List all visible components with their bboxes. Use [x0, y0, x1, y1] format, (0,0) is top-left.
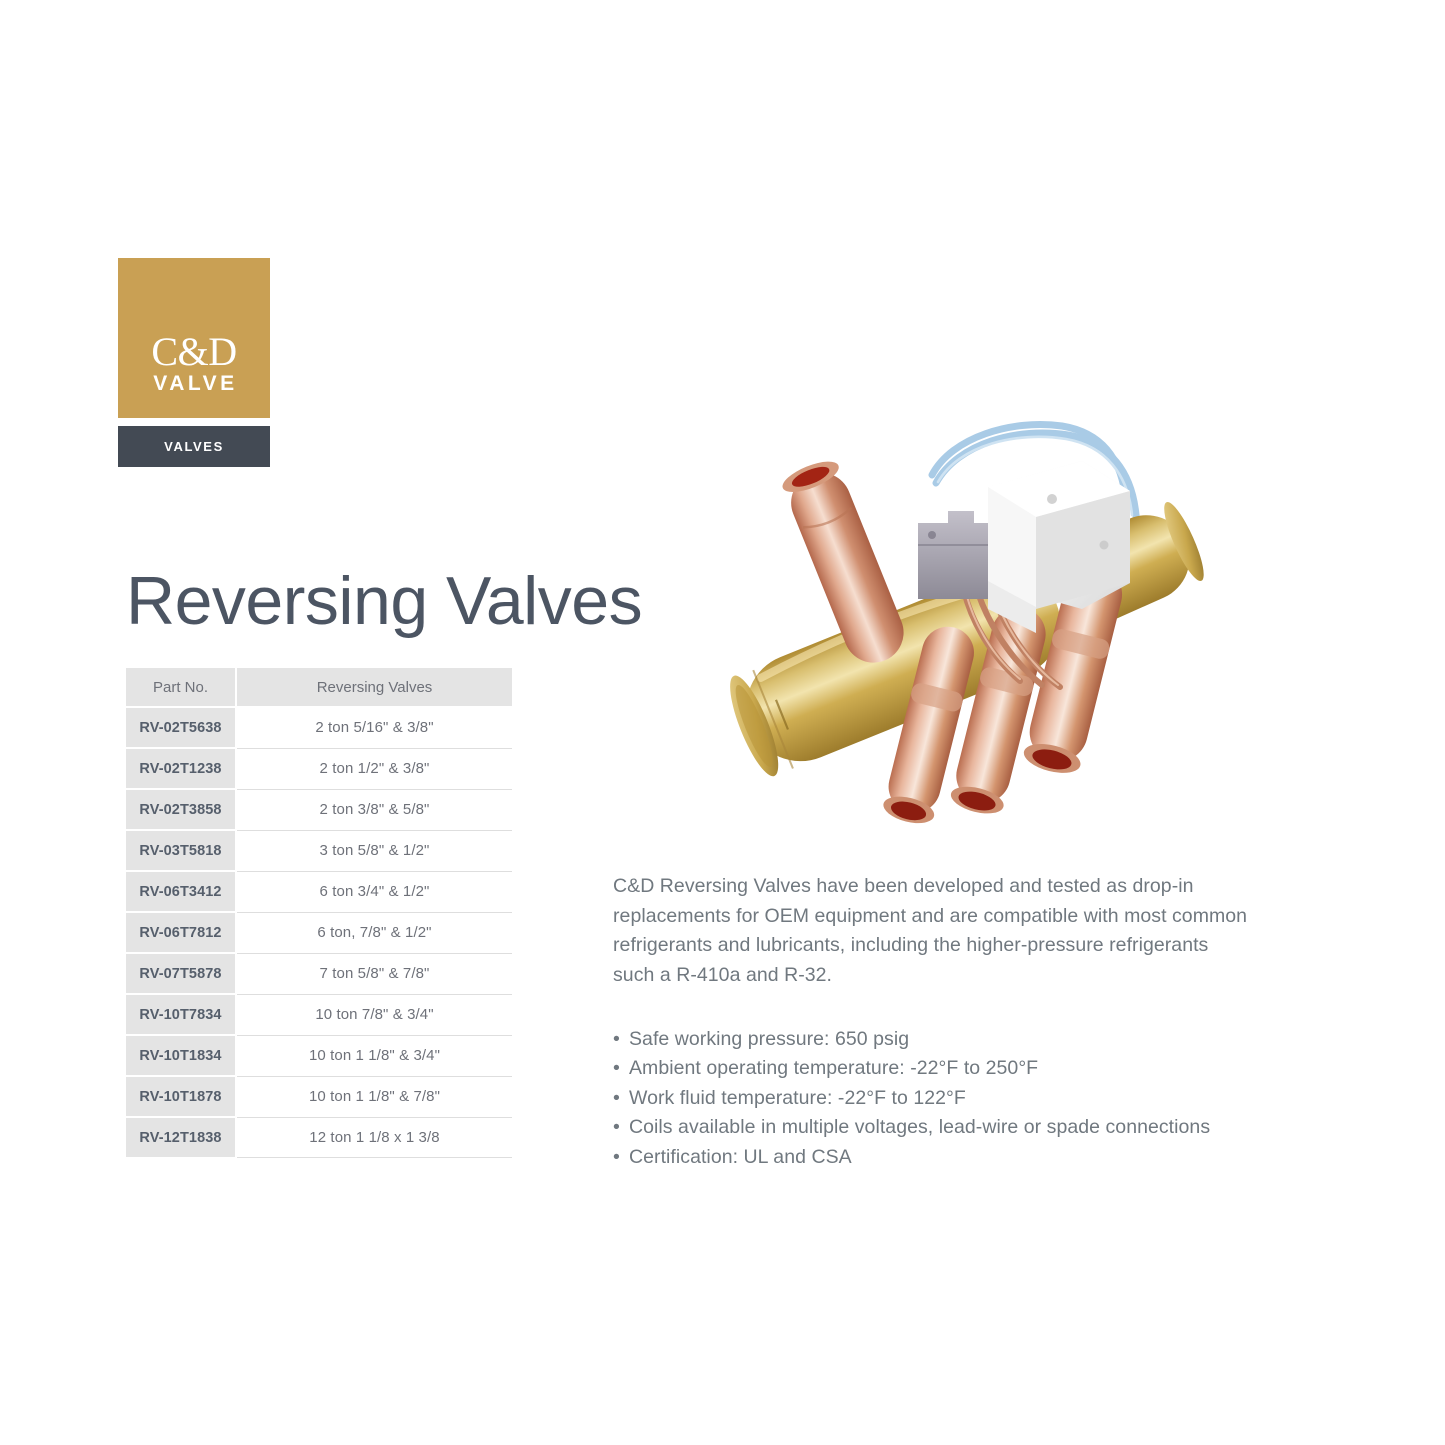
pilot-valve-bracket: [918, 511, 998, 599]
cell-part-no: RV-06T3412: [126, 871, 236, 912]
list-item: •Safe working pressure: 650 psig: [613, 1025, 1253, 1055]
table-row: RV-06T34126 ton 3/4" & 1/2": [126, 871, 512, 912]
page-title: Reversing Valves: [126, 567, 642, 635]
cell-part-no: RV-02T5638: [126, 707, 236, 748]
list-item: •Coils available in multiple voltages, l…: [613, 1113, 1253, 1143]
bullet-icon: •: [613, 1113, 620, 1143]
category-tab-label: VALVES: [164, 439, 224, 454]
table-body: RV-02T56382 ton 5/16" & 3/8"RV-02T12382 …: [126, 707, 512, 1157]
table-header-row: Part No. Reversing Valves: [126, 668, 512, 707]
bullet-icon: •: [613, 1084, 620, 1114]
logo-secondary-text: VALVE: [118, 372, 270, 396]
logo-primary-text: C&D: [118, 334, 270, 371]
cd-valve-logo: C&D VALVE: [118, 258, 270, 418]
list-item: •Certification: UL and CSA: [613, 1143, 1253, 1173]
table-row: RV-10T783410 ton 7/8" & 3/4": [126, 994, 512, 1035]
table-row: RV-12T183812 ton 1 1/8 x 1 3/8: [126, 1117, 512, 1157]
bullet-icon: •: [613, 1025, 620, 1055]
logo-lockup: C&D VALVE: [118, 334, 270, 396]
column-header-part-no: Part No.: [126, 668, 236, 707]
list-item: •Ambient operating temperature: -22°F to…: [613, 1054, 1253, 1084]
cell-description: 10 ton 1 1/8" & 7/8": [236, 1076, 512, 1117]
feature-text: Safe working pressure: 650 psig: [629, 1028, 909, 1050]
table-head: Part No. Reversing Valves: [126, 668, 512, 707]
feature-text: Certification: UL and CSA: [629, 1146, 852, 1168]
bullet-icon: •: [613, 1054, 620, 1084]
datasheet-page: C&D VALVE VALVES Reversing Valves Part N…: [0, 0, 1445, 1445]
category-tab-valves[interactable]: VALVES: [118, 426, 270, 467]
list-item: •Work fluid temperature: -22°F to 122°F: [613, 1084, 1253, 1114]
cell-part-no: RV-12T1838: [126, 1117, 236, 1157]
cell-part-no: RV-06T7812: [126, 912, 236, 953]
solenoid-coil: [988, 461, 1130, 609]
cell-part-no: RV-10T1834: [126, 1035, 236, 1076]
table-row: RV-07T58787 ton 5/8" & 7/8": [126, 953, 512, 994]
copper-tube-upper-left: [779, 455, 913, 671]
table-row: RV-02T38582 ton 3/8" & 5/8": [126, 789, 512, 830]
feature-text: Coils available in multiple voltages, le…: [629, 1116, 1210, 1138]
table-row: RV-06T78126 ton, 7/8" & 1/2": [126, 912, 512, 953]
cell-part-no: RV-02T3858: [126, 789, 236, 830]
cell-description: 2 ton 3/8" & 5/8": [236, 789, 512, 830]
cell-description: 6 ton, 7/8" & 1/2": [236, 912, 512, 953]
table-row: RV-10T187810 ton 1 1/8" & 7/8": [126, 1076, 512, 1117]
cell-description: 7 ton 5/8" & 7/8": [236, 953, 512, 994]
bullet-icon: •: [613, 1143, 620, 1173]
feature-text: Ambient operating temperature: -22°F to …: [629, 1057, 1038, 1079]
cell-description: 10 ton 7/8" & 3/4": [236, 994, 512, 1035]
feature-text: Work fluid temperature: -22°F to 122°F: [629, 1087, 966, 1109]
cell-description: 12 ton 1 1/8 x 1 3/8: [236, 1117, 512, 1157]
cell-description: 3 ton 5/8" & 1/2": [236, 830, 512, 871]
cell-part-no: RV-10T1878: [126, 1076, 236, 1117]
table-row: RV-02T12382 ton 1/2" & 3/8": [126, 748, 512, 789]
valve-illustration: [700, 395, 1270, 865]
table-row: RV-03T58183 ton 5/8" & 1/2": [126, 830, 512, 871]
brand-block: C&D VALVE VALVES: [118, 258, 270, 467]
cell-part-no: RV-02T1238: [126, 748, 236, 789]
cell-description: 10 ton 1 1/8" & 3/4": [236, 1035, 512, 1076]
product-image-reversing-valve: [700, 395, 1270, 865]
column-header-reversing-valves: Reversing Valves: [236, 668, 512, 707]
cell-description: 2 ton 5/16" & 3/8": [236, 707, 512, 748]
description-column: C&D Reversing Valves have been developed…: [613, 872, 1253, 1173]
cell-part-no: RV-07T5878: [126, 953, 236, 994]
table-row: RV-10T183410 ton 1 1/8" & 3/4": [126, 1035, 512, 1076]
cell-description: 2 ton 1/2" & 3/8": [236, 748, 512, 789]
cell-part-no: RV-10T7834: [126, 994, 236, 1035]
table-row: RV-02T56382 ton 5/16" & 3/8": [126, 707, 512, 748]
intro-paragraph: C&D Reversing Valves have been developed…: [613, 872, 1253, 991]
cell-description: 6 ton 3/4" & 1/2": [236, 871, 512, 912]
cell-part-no: RV-03T5818: [126, 830, 236, 871]
feature-list: •Safe working pressure: 650 psig•Ambient…: [613, 1025, 1253, 1173]
part-number-table: Part No. Reversing Valves RV-02T56382 to…: [126, 668, 512, 1158]
